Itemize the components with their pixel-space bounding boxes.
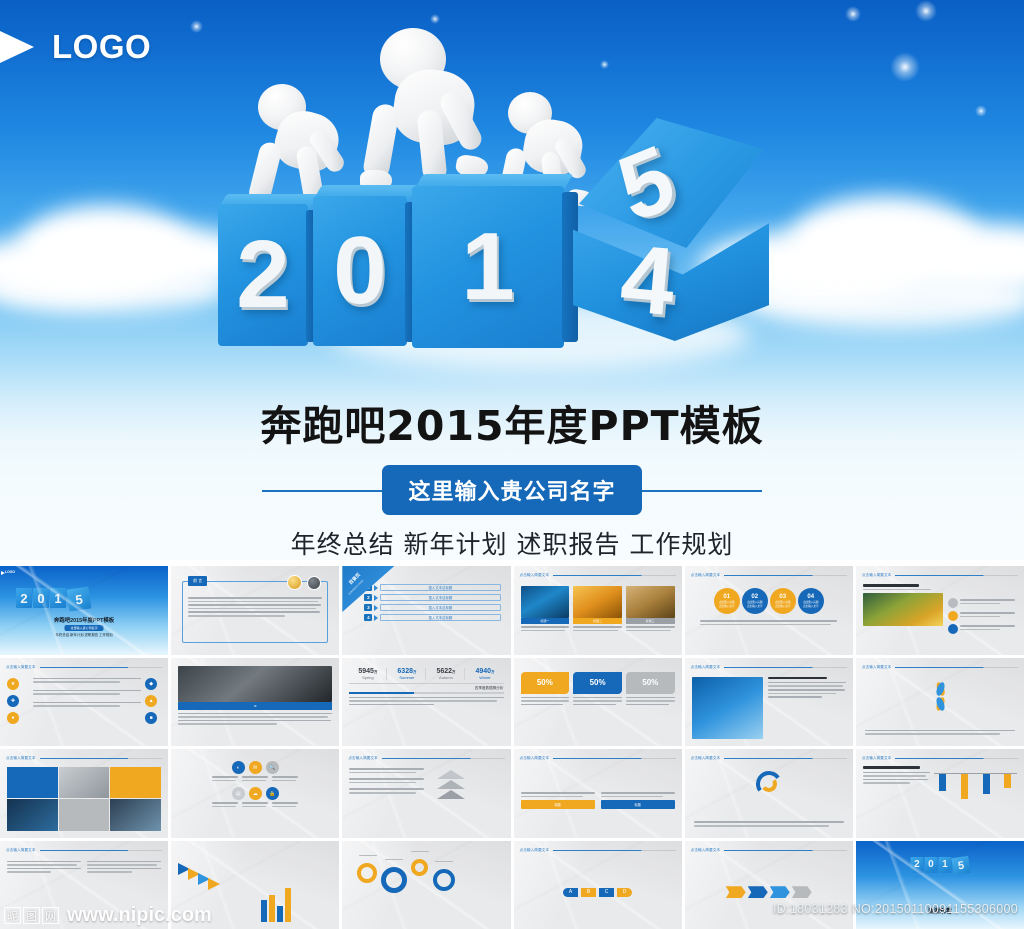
thumb-header: 点击输入简要文本 — [520, 756, 676, 761]
thumbnail-bullets-slide[interactable]: 点击输入简要文本 — [685, 658, 853, 747]
slide-thumbnail-grid: LOGO 2 0 1 5 奔跑吧2015年度PPT模板 这里输入贵公司名字 年终… — [0, 566, 1024, 929]
thumb-header: 点击输入简要文本 — [691, 848, 847, 853]
mini-cube-0: 0 — [33, 588, 49, 608]
thumb-header-rule — [40, 850, 163, 851]
thumb-header: 点击输入简要文本 — [348, 756, 504, 761]
mosaic-tile — [59, 799, 110, 830]
mini-cube-1: 1 — [50, 588, 66, 608]
thumbnail-tag-boxes-slide[interactable]: 点击输入简要文本 标题 标题 — [514, 749, 682, 838]
thumbnail-bar-chart-slide[interactable]: 点击输入简要文本 — [856, 749, 1024, 838]
process-icon: ☁ — [249, 787, 262, 800]
thumb-header-label: 点击输入简要文本 — [6, 848, 36, 853]
thumbnail-abcd-slide[interactable]: 点击输入简要文本 A B C D — [514, 841, 682, 929]
page-title: 奔跑吧2015年度PPT模板 — [0, 392, 1024, 452]
watermark-char-2: 图 — [23, 907, 40, 924]
bar — [285, 888, 291, 922]
feature-icon: ■ — [145, 712, 157, 724]
thumbnail-gears-slide[interactable] — [342, 841, 510, 929]
company-name-row: 这里输入贵公司名字 — [0, 468, 1024, 512]
step-badge: 03 点此键入标题 点击输入文字 — [770, 588, 796, 614]
mini-logo-text: LOGO — [5, 570, 15, 574]
cube-digit-0-label: 0 — [313, 196, 407, 346]
abcd-item: D — [617, 888, 632, 897]
thumb-header: 点击输入简要文本 — [6, 665, 162, 670]
percent-card: 50% — [626, 672, 675, 694]
thumb-header-label: 点击输入简要文本 — [6, 665, 36, 670]
abcd-item: B — [581, 888, 596, 897]
thumb-header-label: 点击输入简要文本 — [862, 665, 892, 670]
bar — [1004, 774, 1011, 788]
thumb-header: 点击输入简要文本 — [862, 573, 1018, 578]
bar — [961, 774, 968, 799]
headline-block: 奔跑吧2015年度PPT模板 这里输入贵公司名字 年终总结 新年计划 述职报告 … — [0, 392, 1024, 560]
tag-badge: 标题 — [521, 800, 595, 809]
gear-icon — [433, 869, 455, 891]
thanks-cube: 1 — [938, 857, 951, 873]
process-icon: ◐ — [232, 761, 245, 774]
mosaic-tile — [7, 799, 58, 830]
thumb-header: 点击输入简要文本 — [6, 848, 162, 853]
thumb-header-rule — [382, 758, 505, 759]
seasons-chart-title: 四季度数据概分析 — [349, 686, 503, 691]
process-icon: 🔒 — [266, 787, 279, 800]
contents-item-arrow-icon — [374, 585, 378, 591]
cube-rotating-2015: 5 4 — [565, 118, 775, 343]
preface-title: 前 言 — [188, 576, 207, 586]
thumb-header-rule — [724, 758, 847, 759]
flower-diagram-icon — [925, 682, 955, 712]
contents-item-arrow-icon — [374, 605, 378, 611]
contents-item-arrow-icon — [374, 595, 378, 601]
thanks-cube: 5 — [951, 855, 970, 874]
thumbnail-process-circles-slide[interactable]: ◐ ✉ 🔍 ▤ ☁ 🔒 — [171, 749, 339, 838]
thumb-header: 点击输入简要文本 — [691, 756, 847, 761]
cube-digit-1-label: 1 — [412, 186, 564, 348]
image-placeholder — [521, 586, 570, 618]
thumb-header: 点击输入简要文本 — [691, 665, 847, 670]
chevron-icon — [437, 790, 465, 799]
thumb-header-rule — [724, 667, 847, 668]
mini-cover-tagline: 年终总结 新年计划 述职报告 工作规划 — [0, 632, 168, 637]
thumb-header-rule — [40, 758, 163, 759]
thumb-header-label: 点击输入简要文本 — [691, 665, 721, 670]
thumbnail-image-list-slide[interactable]: 点击输入简要文本 — [856, 566, 1024, 655]
percent-card: 50% — [573, 672, 622, 694]
arrow-icon — [208, 878, 220, 890]
mini-cube-row: 2 0 1 5 — [16, 588, 90, 610]
watermark-char-1: 昵 — [4, 907, 21, 924]
thumb-header: 点击输入简要文本 — [862, 665, 1018, 670]
step-sublabel: 点击输入文字 — [803, 604, 819, 608]
thumbnail-icon-grid-slide[interactable]: 点击输入简要文本 ★ ✚ ● ◆ ▲ ■ — [0, 658, 168, 747]
thumb-header-rule — [895, 575, 1018, 576]
gear-icon — [381, 867, 407, 893]
contents-item[interactable]: 3 插入文本这标题 — [364, 604, 500, 611]
thumb-header: 点击输入简要文本 — [6, 756, 162, 761]
contents-item-label: 插入文本这标题 — [380, 584, 500, 591]
step-sublabel: 点击输入文字 — [775, 604, 791, 608]
image-caption: 标题二 — [573, 618, 622, 624]
thumb-header: 点击输入简要文本 — [691, 573, 847, 578]
thumb-header-label: 点击输入简要文本 — [348, 756, 378, 761]
swirl-icon — [756, 771, 782, 797]
tagline: 年终总结 新年计划 述职报告 工作规划 — [0, 525, 1024, 560]
season-value: 5622万 — [427, 668, 464, 675]
step-badge: 02 点此键入标题 点击输入文字 — [742, 588, 768, 614]
thumb-header-label: 点击输入简要文本 — [691, 756, 721, 761]
contents-item-label: 插入文本这标题 — [380, 594, 500, 601]
mosaic-tile — [59, 767, 110, 798]
process-icon: ▤ — [232, 787, 245, 800]
list-bullet-icon — [948, 624, 958, 634]
bar-chart-title — [863, 766, 920, 769]
thumb-header-label: 点击输入简要文本 — [862, 756, 892, 761]
thumb-header: 点击输入简要文本 — [862, 756, 1018, 761]
bar — [261, 900, 267, 922]
season-label: Winter — [466, 675, 503, 680]
bar — [939, 774, 946, 791]
thumb-header-label: 点击输入简要文本 — [520, 848, 550, 853]
step-sublabel: 点击输入文字 — [719, 604, 735, 608]
cube-digit-1: 1 — [412, 186, 580, 348]
thumbnail-photo-alpha-slide[interactable]: α — [171, 658, 339, 747]
season-label: Spring — [349, 675, 386, 680]
thumbnail-swirl-slide[interactable]: 点击输入简要文本 — [685, 749, 853, 838]
feature-icon: ✚ — [7, 695, 19, 707]
contents-item[interactable]: 4 插入文本这标题 — [364, 614, 500, 621]
thumb-header-rule — [553, 575, 676, 576]
season-label: Autumn — [427, 675, 464, 680]
hero-illustration: 2 0 1 5 4 — [0, 0, 1024, 400]
abcd-item: A — [563, 888, 578, 897]
bar — [269, 895, 275, 922]
list-bullet-icon — [948, 598, 958, 608]
tag-badge: 标题 — [601, 800, 675, 809]
season-value: 4940万 — [466, 668, 503, 675]
mosaic-tile — [110, 799, 161, 830]
thumb-header: 点击输入简要文本 — [520, 573, 676, 578]
thumbnail-steps-slide[interactable]: 点击输入简要文本 01 点此键入标题 点击输入文字 02 点此键入标题 点击输入… — [685, 566, 853, 655]
season-value: 6328万 — [388, 668, 425, 675]
gear-icon — [411, 859, 428, 876]
thumbnail-chevron-stack-slide[interactable]: 点击输入简要文本 — [342, 749, 510, 838]
image-placeholder — [692, 677, 763, 740]
mosaic-tile — [110, 767, 161, 798]
season-label: Summer — [388, 675, 425, 680]
contents-item-number: 3 — [364, 604, 372, 611]
seasons-progress-bar — [349, 692, 503, 694]
mini-cover-title: 奔跑吧2015年度PPT模板 — [0, 616, 168, 624]
thumb-header-rule — [553, 850, 676, 851]
cube-digit-2: 2 — [218, 204, 314, 346]
step-sublabel: 点击输入文字 — [747, 604, 763, 608]
watermark-char-3: 网 — [42, 907, 59, 924]
thumb-header-rule — [895, 758, 1018, 759]
thumb-header-label: 点击输入简要文本 — [520, 756, 550, 761]
season-value: 5945万 — [349, 668, 386, 675]
slide-subtitle — [863, 584, 919, 587]
funnel-step — [792, 886, 812, 898]
funnel-step — [726, 886, 746, 898]
feature-icon: ◆ — [145, 678, 157, 690]
thumb-header-rule — [895, 667, 1018, 668]
bar — [277, 906, 283, 922]
thumb-header-label: 点击输入简要文本 — [691, 848, 721, 853]
mini-cube-5: 5 — [67, 587, 92, 612]
thumb-header-rule — [724, 575, 847, 576]
image-placeholder — [863, 593, 943, 626]
process-icon: 🔍 — [266, 761, 279, 774]
feature-icon: ★ — [7, 678, 19, 690]
step-badge: 04 点此键入标题 点击输入文字 — [798, 588, 824, 614]
cube-digit-4-label: 4 — [616, 224, 679, 338]
contents-item-label: 插入文本这标题 — [380, 614, 500, 621]
hero-banner: LOGO — [0, 0, 1024, 560]
thanks-cube: 2 — [910, 857, 923, 873]
thumb-header-label: 点击输入简要文本 — [6, 756, 36, 761]
feature-icon: ▲ — [145, 695, 157, 707]
logo: LOGO — [0, 26, 151, 68]
thumb-header-rule — [40, 667, 163, 668]
cube-digit-0: 0 — [313, 196, 413, 346]
thumb-header-label: 点击输入简要文本 — [691, 573, 721, 578]
cube-digit-2-label: 2 — [218, 204, 308, 346]
step-badge: 01 点此键入标题 点击输入文字 — [714, 588, 740, 614]
thumbnail-cover-slide[interactable]: LOGO 2 0 1 5 奔跑吧2015年度PPT模板 这里输入贵公司名字 年终… — [0, 566, 168, 655]
process-icon: ✉ — [249, 761, 262, 774]
thumbnail-percent-cards-slide[interactable]: 50% 50% 50% — [514, 658, 682, 747]
thumb-header-label: 点击输入简要文本 — [520, 573, 550, 578]
preface-paragraph — [188, 597, 322, 619]
image-placeholder — [573, 586, 622, 618]
thumbnail-image-mosaic-slide[interactable]: 点击输入简要文本 — [0, 749, 168, 838]
list-bullet-icon — [948, 611, 958, 621]
thumb-header-rule — [724, 850, 847, 851]
bar — [983, 774, 990, 794]
funnel-step — [748, 886, 768, 898]
thumb-header-label: 点击输入简要文本 — [862, 573, 892, 578]
site-watermark: 昵 图 网 www.nipic.com — [4, 904, 212, 927]
funnel-step — [770, 886, 790, 898]
thumb-header: 点击输入简要文本 — [520, 848, 676, 853]
image-id-watermark: ID:18031283 NO:20150110091155306000 — [773, 902, 1018, 916]
thumbnail-flower-diagram-slide[interactable]: 点击输入简要文本 — [856, 658, 1024, 747]
contents-item[interactable]: 1 插入文本这标题 — [364, 584, 500, 591]
image-placeholder — [178, 666, 332, 702]
thumbnail-seasons-slide[interactable]: 5945万 Spring 6328万 Summer 5622万 Autumn — [342, 658, 510, 747]
image-caption: 标题三 — [626, 618, 675, 624]
logo-text: LOGO — [52, 28, 151, 66]
thumbnail-three-images-slide[interactable]: 点击输入简要文本 标题一 标题二 标题三 — [514, 566, 682, 655]
chevron-icon — [437, 780, 465, 789]
logo-arrow-icon — [0, 30, 34, 64]
image-caption: 标题一 — [521, 618, 570, 624]
chevron-icon — [437, 770, 465, 779]
mini-cube-2: 2 — [16, 588, 32, 608]
contents-item-number: 4 — [364, 614, 372, 621]
thumbnail-preface-slide[interactable]: 前 言 — [171, 566, 339, 655]
feature-icon: ● — [7, 712, 19, 724]
gear-icon — [357, 863, 377, 883]
thumb-header-rule — [553, 758, 676, 759]
contents-item-arrow-icon — [374, 615, 378, 621]
abcd-item: C — [599, 888, 614, 897]
thumbnail-contents-slide[interactable]: 目录页 CONTENTS PAGE 1 插入文本这标题 2 插入文本这标题 3 … — [342, 566, 510, 655]
contents-item-number: 2 — [364, 594, 372, 601]
mosaic-tile — [7, 767, 58, 798]
percent-card: 50% — [521, 672, 570, 694]
mini-cover-badge: 这里输入贵公司名字 — [65, 625, 104, 631]
contents-item-label: 插入文本这标题 — [380, 604, 500, 611]
watermark-url: www.nipic.com — [67, 904, 212, 927]
alpha-banner: α — [178, 702, 332, 710]
company-name-badge[interactable]: 这里输入贵公司名字 — [382, 465, 641, 515]
image-placeholder — [626, 586, 675, 618]
contents-item[interactable]: 2 插入文本这标题 — [364, 594, 500, 601]
thanks-cube: 0 — [924, 857, 937, 873]
